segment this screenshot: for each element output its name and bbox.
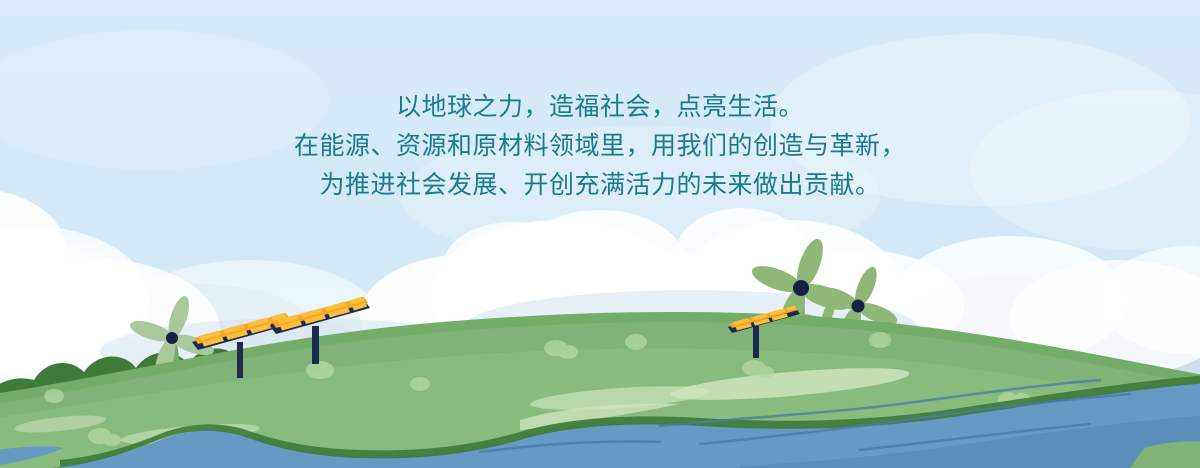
landscape-illustration [0,0,1200,468]
eco-banner: 以地球之力，造福社会，点亮生活。 在能源、资源和原材料领域里，用我们的创造与革新… [0,0,1200,468]
